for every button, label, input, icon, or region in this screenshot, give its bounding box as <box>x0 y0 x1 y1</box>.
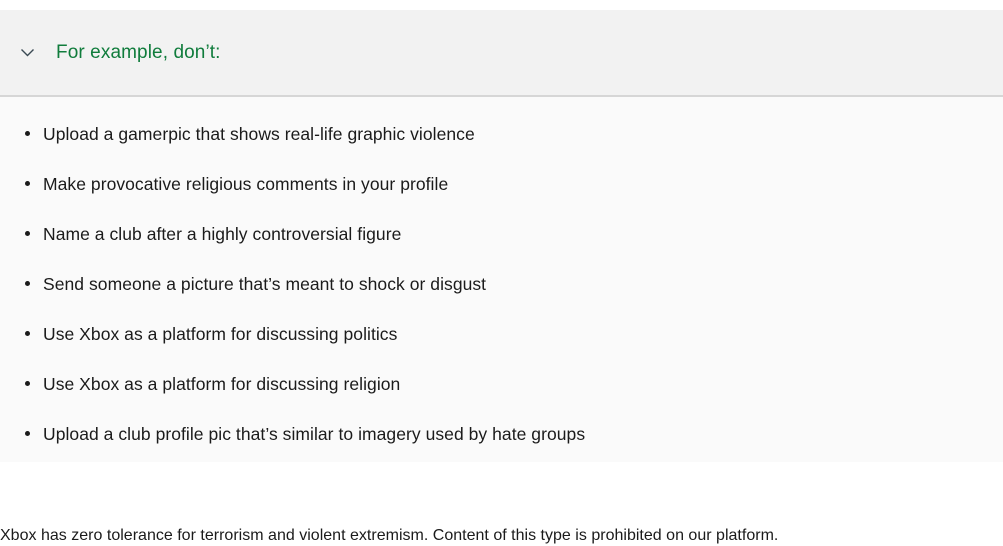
list-item: Name a club after a highly controversial… <box>0 223 1003 273</box>
list-item: Use Xbox as a platform for discussing re… <box>0 373 1003 423</box>
list-item-label: Make provocative religious comments in y… <box>43 174 448 194</box>
list-item-label: Use Xbox as a platform for discussing re… <box>43 374 400 394</box>
list-item: Make provocative religious comments in y… <box>0 173 1003 223</box>
list-item: Upload a club profile pic that’s similar… <box>0 423 1003 473</box>
prohibited-actions-list: Upload a gamerpic that shows real-life g… <box>0 97 1003 473</box>
list-item: Send someone a picture that’s meant to s… <box>0 273 1003 323</box>
bullet-icon <box>25 381 30 386</box>
list-item-label: Send someone a picture that’s meant to s… <box>43 274 486 294</box>
list-item-label: Upload a gamerpic that shows real-life g… <box>43 124 475 144</box>
list-item: Use Xbox as a platform for discussing po… <box>0 323 1003 373</box>
list-item: Upload a gamerpic that shows real-life g… <box>0 123 1003 173</box>
bullet-icon <box>25 231 30 236</box>
bullet-icon <box>25 181 30 186</box>
accordion-header-for-example-dont[interactable]: For example, don’t: <box>0 10 1003 97</box>
closing-paragraph: Xbox has zero tolerance for terrorism an… <box>0 525 1003 546</box>
collapsible-section: For example, don’t: Upload a gamerpic th… <box>0 10 1003 462</box>
accordion-title: For example, don’t: <box>56 41 221 65</box>
chevron-down-icon[interactable] <box>19 44 36 61</box>
bullet-icon <box>25 331 30 336</box>
list-item-label: Name a club after a highly controversial… <box>43 224 401 244</box>
bullet-icon <box>25 131 30 136</box>
document-page: For example, don’t: Upload a gamerpic th… <box>0 0 1003 541</box>
bullet-icon <box>25 281 30 286</box>
bullet-icon <box>25 431 30 436</box>
list-item-label: Use Xbox as a platform for discussing po… <box>43 324 397 344</box>
list-item-label: Upload a club profile pic that’s similar… <box>43 424 585 444</box>
accordion-body: Upload a gamerpic that shows real-life g… <box>0 97 1003 462</box>
